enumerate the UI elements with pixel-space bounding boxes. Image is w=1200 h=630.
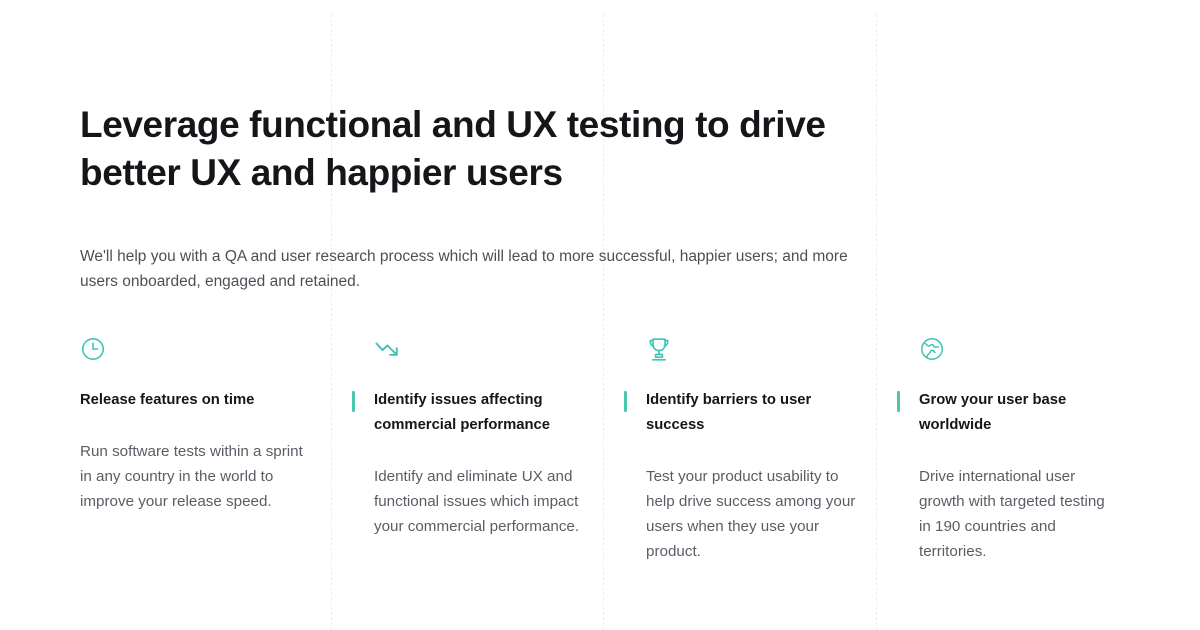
marketing-feature-section: Leverage functional and UX testing to dr… [0, 0, 1200, 630]
page-title: Leverage functional and UX testing to dr… [80, 101, 870, 197]
feature-heading: Release features on time [80, 388, 312, 413]
feature-body: Drive international user growth with tar… [919, 464, 1110, 564]
trend-down-arrow-icon [374, 336, 584, 366]
feature-body: Run software tests within a sprint in an… [80, 439, 312, 514]
feature-body: Identify and eliminate UX and functional… [374, 464, 584, 539]
clock-icon [80, 336, 312, 366]
feature-columns: Release features on time Run software te… [80, 336, 1120, 564]
feature-body: Test your product usability to help driv… [646, 464, 857, 564]
feature-column-commercial-performance: Identify issues affecting commercial per… [352, 336, 624, 564]
feature-column-global-growth: Grow your user base worldwide Drive inte… [897, 336, 1120, 564]
page-subtitle: We'll help you with a QA and user resear… [80, 244, 855, 294]
trophy-icon [646, 336, 857, 366]
content-container: Leverage functional and UX testing to dr… [80, 0, 1120, 630]
feature-column-release-features: Release features on time Run software te… [80, 336, 352, 564]
feature-heading: Identify issues affecting commercial per… [374, 388, 584, 438]
feature-heading: Grow your user base worldwide [919, 388, 1110, 438]
feature-column-user-success: Identify barriers to user success Test y… [624, 336, 897, 564]
feature-heading: Identify barriers to user success [646, 388, 857, 438]
globe-icon [919, 336, 1110, 366]
